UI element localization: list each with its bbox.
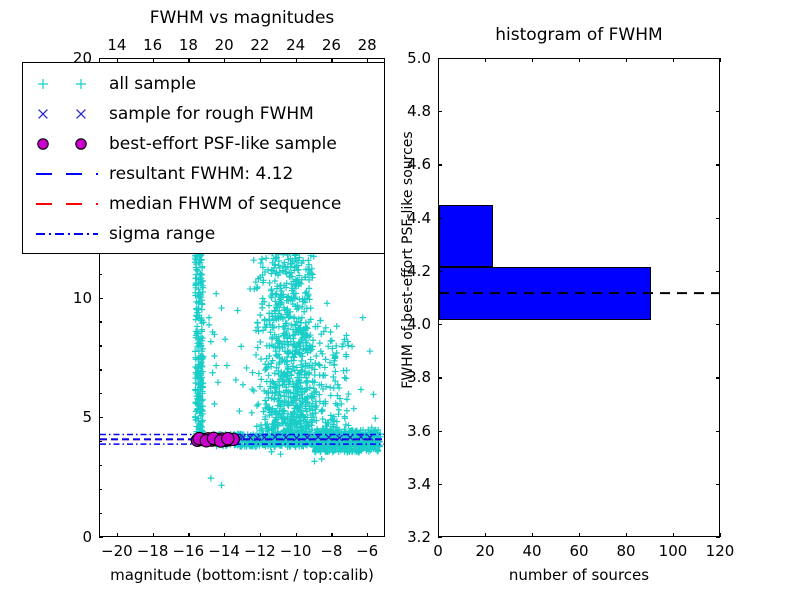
x-top-tick-label: 22	[250, 36, 269, 54]
axis-tick	[99, 58, 103, 59]
y-tick-label: 10	[73, 289, 92, 307]
right-panel-axes	[438, 58, 720, 537]
x-tick-label: 40	[522, 542, 541, 560]
axis-minor-tick	[99, 489, 102, 490]
y-tick-label: 3.4	[407, 475, 431, 493]
axis-tick	[224, 533, 225, 537]
legend-marker-dashed-icon	[36, 201, 98, 207]
legend-marker-circle-icon	[72, 135, 90, 153]
resultant-fwhm-reference-layer	[439, 59, 719, 536]
x-top-tick-label: 26	[322, 36, 341, 54]
axis-tick	[438, 111, 442, 112]
legend-item: median FHWM of sequence	[23, 189, 384, 219]
legend-marker-circle-icon	[34, 135, 52, 153]
axis-tick	[438, 377, 442, 378]
axis-tick	[188, 533, 189, 537]
axis-tick	[579, 58, 580, 62]
axis-tick	[485, 533, 486, 537]
left-xaxis-label: magnitude (bottom:isnt / top:calib)	[99, 566, 385, 584]
axis-tick	[716, 271, 720, 272]
axis-minor-tick	[99, 274, 102, 275]
legend-marker-dashed-icon	[36, 171, 98, 177]
x-tick-label: −10	[280, 542, 312, 560]
axis-tick	[438, 218, 442, 219]
legend-item-label: all sample	[109, 74, 196, 94]
axis-tick	[438, 431, 442, 432]
legend-box: all samplesample for rough FWHMbest-effo…	[22, 62, 385, 254]
axis-tick	[626, 58, 627, 62]
x-tick-label: 60	[569, 542, 588, 560]
legend-item: sigma range	[23, 219, 384, 249]
legend-marker-plus-icon	[34, 75, 52, 93]
axis-tick	[579, 533, 580, 537]
legend-marker-cross-icon	[34, 105, 52, 123]
x-top-tick-label: 28	[358, 36, 377, 54]
right-xaxis-label: number of sources	[438, 566, 720, 584]
y-tick-label: 0	[82, 528, 92, 546]
x-tick-label: −16	[173, 542, 205, 560]
axis-tick	[626, 533, 627, 537]
x-top-tick-label: 16	[143, 36, 162, 54]
legend-item: all sample	[23, 69, 384, 99]
legend-item: sample for rough FWHM	[23, 99, 384, 129]
legend-item: best-effort PSF-like sample	[23, 129, 384, 159]
legend-marker-cross-icon	[72, 105, 90, 123]
x-top-tick-label: 20	[215, 36, 234, 54]
x-tick-label: 80	[616, 542, 635, 560]
axis-minor-tick	[99, 465, 102, 466]
x-tick-label: 0	[433, 542, 443, 560]
legend-item-label: median FHWM of sequence	[109, 194, 341, 214]
x-top-tick-label: 18	[179, 36, 198, 54]
x-tick-label: −14	[208, 542, 240, 560]
axis-minor-tick	[99, 369, 102, 370]
axis-tick	[720, 58, 721, 62]
axis-tick	[485, 58, 486, 62]
legend-marker-dashdot-icon	[36, 231, 98, 237]
axis-tick	[716, 484, 720, 485]
axis-tick	[438, 58, 442, 59]
axis-tick	[716, 537, 720, 538]
axis-tick	[720, 533, 721, 537]
axis-tick	[716, 324, 720, 325]
x-tick-label: 20	[475, 542, 494, 560]
axis-tick	[532, 58, 533, 62]
axis-minor-tick	[99, 393, 102, 394]
right-panel-title: histogram of FWHM	[438, 25, 720, 45]
axis-tick	[117, 533, 118, 537]
axis-tick	[532, 533, 533, 537]
x-tick-label: −12	[244, 542, 276, 560]
legend-item-label: best-effort PSF-like sample	[109, 134, 337, 154]
axis-tick	[367, 533, 368, 537]
axis-tick	[716, 111, 720, 112]
axis-tick	[153, 533, 154, 537]
axis-tick	[673, 58, 674, 62]
legend-item-label: sample for rough FWHM	[109, 104, 314, 124]
legend-item-label: resultant FWHM: 4.12	[109, 164, 293, 184]
legend-marker-plus-icon	[72, 75, 90, 93]
axis-minor-tick	[99, 321, 102, 322]
x-tick-label: −8	[320, 542, 342, 560]
x-top-tick-label: 24	[286, 36, 305, 54]
axis-tick	[438, 484, 442, 485]
axis-tick	[99, 298, 103, 299]
legend-item-label: sigma range	[109, 224, 215, 244]
x-tick-label: −18	[137, 542, 169, 560]
x-top-tick-label: 14	[107, 36, 126, 54]
y-tick-label: 3.2	[407, 528, 431, 546]
axis-tick	[331, 533, 332, 537]
axis-tick	[99, 537, 103, 538]
x-tick-label: −20	[101, 542, 133, 560]
series-psf-like-sample	[191, 432, 239, 447]
axis-tick	[716, 164, 720, 165]
axis-minor-tick	[99, 345, 102, 346]
axis-tick	[438, 324, 442, 325]
axis-tick	[716, 431, 720, 432]
right-yaxis-label: FWHM of best-effort PSF-like sources	[400, 50, 416, 470]
x-tick-label: 100	[659, 542, 688, 560]
x-tick-label: −6	[356, 542, 378, 560]
figure-canvas: FWHM vs magnitudes −20−18−16−14−12−10−8−…	[0, 0, 800, 600]
axis-tick	[438, 271, 442, 272]
y-tick-label: 5	[82, 408, 92, 426]
axis-tick	[260, 533, 261, 537]
legend-item: resultant FWHM: 4.12	[23, 159, 384, 189]
left-panel-title: FWHM vs magnitudes	[99, 8, 385, 28]
axis-tick	[673, 533, 674, 537]
axis-minor-tick	[99, 441, 102, 442]
axis-minor-tick	[99, 513, 102, 514]
histogram-plot-area	[439, 59, 719, 536]
axis-tick	[438, 164, 442, 165]
axis-tick	[99, 417, 103, 418]
axis-tick	[438, 537, 442, 538]
x-tick-label: 120	[706, 542, 735, 560]
axis-tick	[716, 377, 720, 378]
axis-tick	[716, 58, 720, 59]
axis-tick	[296, 533, 297, 537]
axis-tick	[716, 218, 720, 219]
